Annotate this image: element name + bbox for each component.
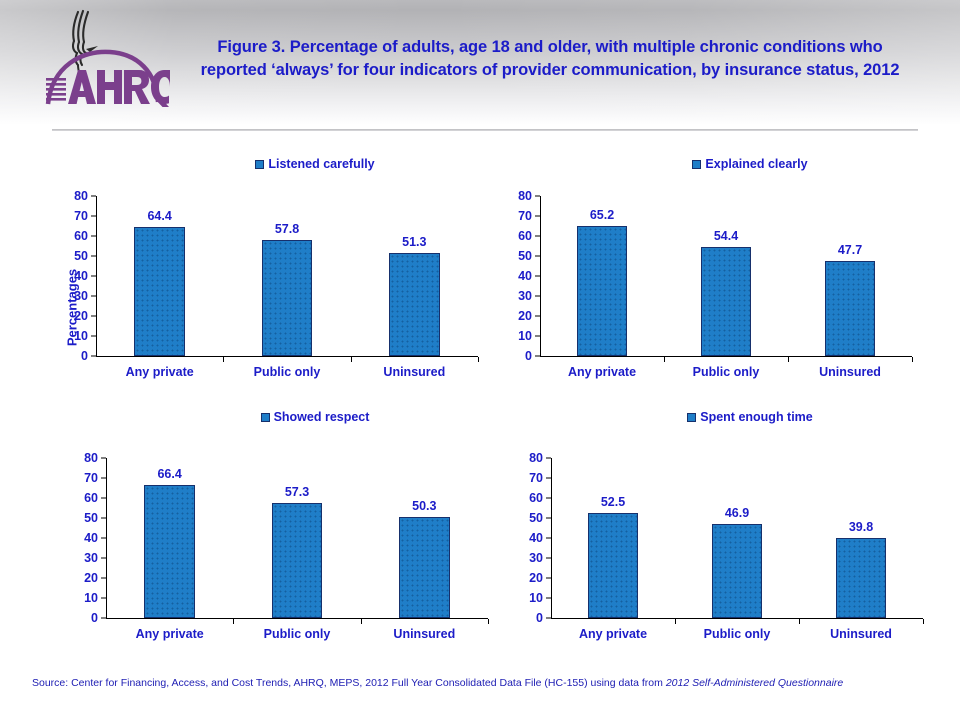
y-tick-mark [535,196,540,197]
y-tick-label: 50 [84,511,98,525]
y-tick-label: 60 [529,491,543,505]
source-prefix: Source: Center for Financing, Access, an… [32,677,666,689]
x-category-label: Any private [579,627,647,641]
y-tick-mark [91,356,96,357]
y-tick-mark [546,458,551,459]
bar-value-label: 57.3 [285,485,309,499]
bar[interactable] [399,517,450,618]
y-tick-label: 0 [81,349,88,363]
y-tick-label: 80 [518,189,532,203]
x-category-label: Any private [126,365,194,379]
x-category-label: Public only [264,627,331,641]
y-tick-mark [535,336,540,337]
x-tick-mark [361,619,362,624]
y-tick-mark [546,518,551,519]
y-tick-mark [91,196,96,197]
x-tick-mark [223,357,224,362]
y-tick-label: 70 [518,209,532,223]
y-tick-label: 30 [84,551,98,565]
source-italic: 2012 Self-Administered Questionnaire [666,677,843,689]
y-tick-label: 50 [529,511,543,525]
y-tick-mark [546,498,551,499]
y-tick-mark [91,316,96,317]
bar-value-label: 39.8 [849,520,873,534]
y-tick-label: 10 [518,329,532,343]
y-tick-mark [535,256,540,257]
y-tick-label: 20 [84,571,98,585]
x-category-label: Uninsured [819,365,881,379]
chart-legend-3[interactable]: Showed respect [150,408,480,426]
y-tick-label: 30 [518,289,532,303]
y-tick-mark [546,538,551,539]
x-tick-mark [233,619,234,624]
bar[interactable] [144,485,195,618]
x-tick-mark [675,619,676,624]
y-tick-label: 70 [529,471,543,485]
chart-legend-2[interactable]: Explained clearly [590,155,910,173]
legend-swatch-icon [261,413,270,422]
y-tick-mark [535,276,540,277]
y-tick-label: 50 [518,249,532,263]
x-tick-mark [923,619,924,624]
x-category-label: Public only [254,365,321,379]
legend-swatch-icon [692,160,701,169]
y-axis-line [106,458,107,619]
y-tick-label: 80 [529,451,543,465]
legend-swatch-icon [687,413,696,422]
bar[interactable] [577,226,627,356]
y-tick-mark [546,478,551,479]
y-tick-mark [546,618,551,619]
y-tick-label: 30 [529,551,543,565]
y-tick-mark [101,518,106,519]
x-tick-mark [351,357,352,362]
y-tick-mark [546,598,551,599]
bar[interactable] [836,538,886,618]
y-tick-label: 0 [91,611,98,625]
x-tick-mark [488,619,489,624]
y-tick-mark [535,296,540,297]
x-category-label: Uninsured [830,627,892,641]
y-tick-mark [101,478,106,479]
x-tick-mark [788,357,789,362]
y-tick-label: 60 [518,229,532,243]
x-axis-line [106,618,488,619]
x-axis-line [96,356,478,357]
y-tick-label: 40 [518,269,532,283]
y-tick-mark [91,256,96,257]
figure-title: Figure 3. Percentage of adults, age 18 a… [192,36,908,83]
bar[interactable] [134,227,185,356]
y-tick-label: 70 [74,209,88,223]
y-tick-mark [535,216,540,217]
legend-swatch-icon [255,160,264,169]
y-tick-label: 80 [84,451,98,465]
y-tick-mark [546,578,551,579]
y-axis-line [96,196,97,357]
bar-value-label: 54.4 [714,229,738,243]
y-tick-mark [101,558,106,559]
y-tick-label: 70 [84,471,98,485]
y-tick-mark [535,316,540,317]
bar-value-label: 52.5 [601,495,625,509]
ahrq-logo[interactable] [38,8,170,110]
y-tick-label: 0 [536,611,543,625]
y-tick-mark [546,558,551,559]
bar[interactable] [588,513,638,618]
y-tick-label: 60 [84,491,98,505]
y-tick-mark [101,598,106,599]
x-axis-line [551,618,923,619]
bar[interactable] [262,240,313,356]
y-tick-label: 40 [529,531,543,545]
x-category-label: Uninsured [393,627,455,641]
y-axis-title: Percentages [65,238,80,378]
x-category-label: Uninsured [383,365,445,379]
x-category-label: Public only [693,365,760,379]
y-tick-mark [91,276,96,277]
y-tick-mark [101,458,106,459]
y-tick-mark [91,296,96,297]
bar[interactable] [712,524,762,618]
source-note: Source: Center for Financing, Access, an… [32,676,932,690]
chart-legend-4[interactable]: Spent enough time [590,408,910,426]
bar-value-label: 66.4 [157,467,181,481]
y-tick-mark [535,356,540,357]
chart-legend-1[interactable]: Listened carefully [150,155,480,173]
x-category-label: Any private [136,627,204,641]
y-tick-mark [91,236,96,237]
y-tick-mark [101,538,106,539]
ahrq-logo-svg [38,8,170,110]
y-tick-mark [91,336,96,337]
y-tick-label: 10 [84,591,98,605]
y-tick-mark [91,216,96,217]
x-tick-mark [799,619,800,624]
y-tick-label: 20 [518,309,532,323]
bar[interactable] [272,503,323,618]
y-tick-mark [101,618,106,619]
legend-label: Explained clearly [705,157,807,171]
bar-value-label: 46.9 [725,506,749,520]
bar-value-label: 50.3 [412,499,436,513]
y-tick-mark [101,578,106,579]
y-axis-line [540,196,541,357]
header-divider [52,129,918,131]
y-tick-label: 0 [525,349,532,363]
y-tick-label: 10 [529,591,543,605]
y-tick-label: 20 [529,571,543,585]
legend-label: Spent enough time [700,410,813,424]
bar-value-label: 65.2 [590,208,614,222]
bar-value-label: 47.7 [838,243,862,257]
y-tick-mark [101,498,106,499]
legend-label: Listened carefully [268,157,374,171]
bar-value-label: 64.4 [147,209,171,223]
y-axis-line [551,458,552,619]
x-tick-mark [478,357,479,362]
x-category-label: Public only [704,627,771,641]
y-tick-mark [535,236,540,237]
y-tick-label: 80 [74,189,88,203]
bar-value-label: 57.8 [275,222,299,236]
y-tick-label: 40 [84,531,98,545]
x-axis-line [540,356,912,357]
bar[interactable] [701,247,751,356]
bar[interactable] [825,261,875,356]
x-tick-mark [912,357,913,362]
bar[interactable] [389,253,440,356]
legend-label: Showed respect [274,410,370,424]
bar-value-label: 51.3 [402,235,426,249]
x-tick-mark [664,357,665,362]
x-category-label: Any private [568,365,636,379]
